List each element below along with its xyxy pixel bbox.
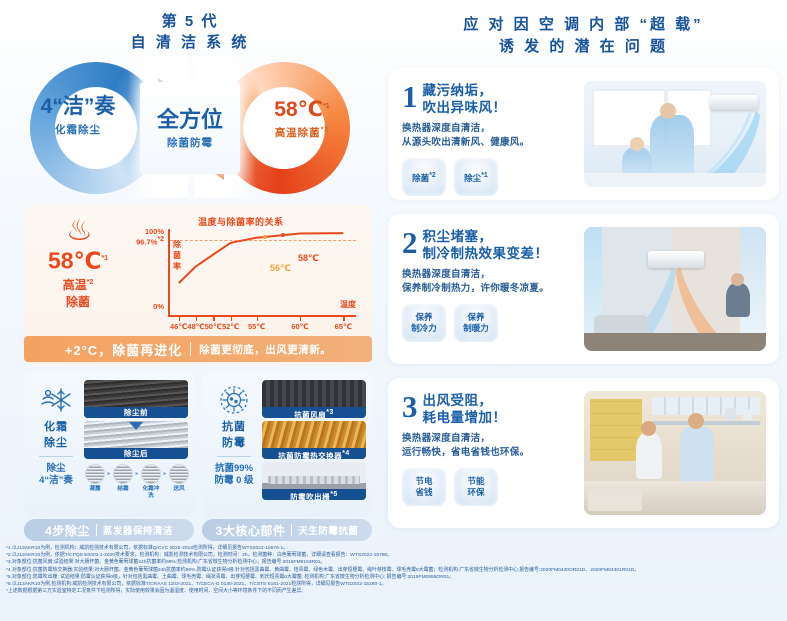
flame-label-line2: 除菌	[38, 295, 118, 310]
footnote-7: *上述数据根据第三方实验室特定工况条件下检测所得，实际使用效果会因为温湿度、使用…	[6, 588, 781, 595]
chart-annotation-56: 56℃	[270, 263, 291, 274]
card2-desc-line1: 换热器深度自清洁，	[402, 268, 577, 282]
panel1-title-line1: 化霜	[30, 420, 82, 434]
right-headline: 应 对 因 空 调 内 部 “超 载” 诱 发 的 潜 在 问 题	[380, 14, 787, 58]
flame-temperature-sup: *1	[101, 255, 108, 262]
card2-title-line1: 积尘堵塞，	[402, 228, 577, 245]
x-tick-label-46℃: 46℃	[170, 322, 187, 331]
left-headline-line2: 自 清 洁 系 统	[0, 32, 380, 54]
infinity-loop-diagram: 4“洁”奏 化霜除尘 全方位 除菌防霉 58℃*1 高温除菌*2	[8, 58, 372, 198]
card3-title-line2: 耗电量增加！	[402, 409, 577, 426]
panel2-caption-fan: 抗菌风扇*3	[262, 407, 366, 418]
flame-badge: ♨ 58℃*1 高温*2 除菌	[38, 217, 118, 310]
card1-desc-line1: 换热器深度自清洁，	[402, 122, 577, 136]
ac-unit-icon	[710, 95, 758, 110]
dedust-step-label: 结霜	[112, 486, 134, 493]
chip-eco[interactable]: 节能环保	[454, 468, 498, 506]
dedust-step-label: 凝露	[84, 486, 106, 493]
panel1-steps: 凝露▸结霜▸化霜冲洗▸送风	[84, 464, 190, 500]
x-axis-ticks: 46℃48℃50℃52℃55℃60℃65℃	[168, 317, 358, 337]
footnote-2: *2.以J13AKR10为例，依据T/CPQS E0003.1-2020技术要求…	[6, 552, 781, 559]
panel1-divider	[39, 456, 73, 457]
panel2-caption-louver: 防霉吹出栅*5	[262, 489, 366, 500]
right-headline-line1: 应 对 因 空 调 内 部 “超 载”	[380, 14, 787, 36]
card2-image	[584, 227, 766, 351]
problem-card-1: 1 藏污纳垢， 吹出异味风！ 换热器深度自清洁， 从源头吹出清新风、健康风。 除…	[388, 68, 779, 200]
chart-annotation-58: 58℃	[298, 253, 319, 264]
x-tick-label-50℃: 50℃	[205, 322, 222, 331]
panel2-sub-line2: 防霉 0 级	[208, 475, 260, 487]
feature-panel-dust-removal: 化霜 除尘 除尘 4“洁”奏 除尘前 除尘后 凝露▸结霜▸化霜冲洗▸送风	[24, 372, 194, 517]
x-tick-55℃	[257, 317, 258, 321]
step-separator-icon: ▸	[135, 464, 138, 477]
cta-sub-text: 除菌更彻底，出风更清新。	[199, 342, 331, 357]
x-tick-label-60℃: 60℃	[291, 322, 308, 331]
panel2-bar-sub: 天生防霉抗菌	[298, 523, 358, 537]
problem-card-2: 2 积尘堵塞， 制冷制热效果变差！ 换热器深度自清洁， 保养制冷制热力，许你暖冬…	[388, 214, 779, 364]
card1-chips: 除菌*2 除尘*1	[402, 150, 577, 196]
x-tick-label-48℃: 48℃	[187, 322, 204, 331]
dedust-step-label: 送风	[168, 486, 190, 493]
chip-maintain-heating[interactable]: 保养制暖力	[454, 304, 498, 342]
panel1-sub-line2: 4“洁”奏	[30, 475, 82, 487]
footnote-1: *1.以J13AKR10为例，检测机构：威凯检测技术有限公司，依据标准Q/CVC…	[6, 545, 781, 552]
card2-chips: 保养制冷力 保养制暖力	[402, 296, 577, 342]
card2-number: 2	[402, 228, 418, 258]
card1-text: 1 藏污纳垢， 吹出异味风！ 换热器深度自清洁， 从源头吹出清新风、健康风。 除…	[402, 82, 577, 196]
right-column: 应 对 因 空 调 内 部 “超 载” 诱 发 的 潜 在 问 题 1 藏污纳垢…	[380, 0, 787, 545]
card3-title-line1: 出风受阻，	[402, 392, 577, 409]
dedust-step-icon	[113, 464, 133, 484]
card3-image	[584, 391, 766, 515]
dedust-step-icon	[85, 464, 105, 484]
chip-maintain-cooling[interactable]: 保养制冷力	[402, 304, 446, 342]
left-headline-line1: 第 5 代	[0, 12, 380, 32]
panel1-caption-before: 除尘前	[84, 407, 188, 418]
card1-image	[584, 81, 766, 187]
card3-desc-line2: 运行畅快，省电省钱也环保。	[402, 446, 577, 460]
flame-icon: ♨	[38, 217, 118, 245]
panel1-caption-after: 除尘后	[84, 448, 188, 459]
card2-desc-line2: 保养制冷制热力，许你暖冬凉夏。	[402, 282, 577, 296]
panel2-right: 抗菌风扇*3 抗菌防霉热交换器*4 防霉吹出栅*5	[262, 380, 366, 503]
loop-right-title-sup: *1	[323, 103, 330, 110]
ac-unit-icon	[648, 251, 704, 268]
loop-center-title: 全方位	[157, 107, 223, 133]
x-tick-48℃	[196, 317, 197, 321]
panel1-left: 化霜 除尘 除尘 4“洁”奏	[30, 382, 82, 487]
panel2-image-fan: 抗菌风扇*3	[262, 380, 366, 418]
panel2-left: 抗菌 防霉 抗菌99% 防霉 0 级	[208, 382, 260, 487]
chart-point-58	[281, 233, 285, 237]
card2-title-line2: 制冷制热效果变差！	[402, 245, 577, 262]
card3-desc-line1: 换热器深度自清洁，	[402, 432, 577, 446]
x-tick-label-52℃: 52℃	[222, 322, 239, 331]
card3-number: 3	[402, 392, 418, 422]
panel2-caption-heat-exchanger: 抗菌防霉热交换器*4	[262, 448, 366, 459]
left-headline: 第 5 代 自 清 洁 系 统	[0, 12, 380, 54]
cta-banner: +2°C，除菌再进化 除菌更彻底，出风更清新。	[24, 336, 372, 362]
right-headline-line2: 诱 发 的 潜 在 问 题	[380, 36, 787, 58]
chip-save-power[interactable]: 节电省钱	[402, 468, 446, 506]
card2-text: 2 积尘堵塞， 制冷制热效果变差！ 换热器深度自清洁， 保养制冷制热力，许你暖冬…	[402, 228, 577, 342]
step-separator-icon: ▸	[107, 464, 110, 477]
snowflake-dust-icon	[30, 382, 82, 418]
loop-center-subtitle: 除菌防霉	[167, 135, 213, 150]
loop-item-right: 58℃*1 高温除菌*2	[242, 94, 362, 140]
virus-shield-icon	[208, 382, 260, 418]
panel2-title-line2: 防霉	[208, 436, 260, 450]
x-tick-46℃	[179, 317, 180, 321]
panel1-bar-divider	[96, 524, 97, 536]
panel2-summary-bar: 3大核心部件 天生防霉抗菌	[202, 519, 372, 541]
dedust-step-icon	[141, 464, 161, 484]
left-column: 第 5 代 自 清 洁 系 统 4“洁”奏 化霜除尘 全方位 除菌防霉 58℃*…	[0, 0, 380, 545]
dedust-step-label: 化霜冲洗	[140, 486, 162, 500]
dedust-step-1: 凝露	[84, 464, 106, 493]
panel1-bar-sub: 蒸发器保持清洁	[103, 523, 173, 537]
chart-series-svg	[120, 215, 358, 327]
panel2-sub-line1: 抗菌99%	[208, 463, 260, 475]
flame-label-line1: 高温*2	[38, 275, 118, 293]
loop-right-subtitle: 高温除菌*2	[242, 125, 362, 140]
panel1-sub-line1: 除尘	[30, 463, 82, 475]
panel2-bar-main: 3大核心部件	[216, 522, 286, 539]
loop-left-subtitle: 化霜除尘	[18, 122, 138, 137]
card1-desc-line2: 从源头吹出清新风、健康风。	[402, 136, 577, 150]
dedust-step-icon	[169, 464, 189, 484]
flame-label-sup: *2	[87, 279, 94, 286]
flame-temperature: 58℃*1	[38, 247, 118, 273]
x-tick-label-55℃: 55℃	[248, 322, 265, 331]
panel2-bar-divider	[291, 524, 292, 536]
panel1-bar-main: 4步除尘	[45, 522, 90, 539]
footnotes: *1.以J13AKR10为例，检测机构：威凯检测技术有限公司，依据标准Q/CVC…	[6, 545, 781, 595]
card1-title-line1: 藏污纳垢，	[402, 82, 577, 99]
x-tick-50℃	[213, 317, 214, 321]
x-tick-65℃	[343, 317, 344, 321]
loop-right-title: 58℃*1	[242, 94, 362, 123]
x-tick-60℃	[300, 317, 301, 321]
chip-dedust[interactable]: 除尘*1	[454, 158, 498, 196]
panel1-title-line2: 除尘	[30, 436, 82, 450]
card1-desc: 换热器深度自清洁， 从源头吹出清新风、健康风。	[402, 116, 577, 150]
x-tick-label-65℃: 65℃	[335, 322, 352, 331]
panel1-image-before: 除尘前	[84, 380, 188, 418]
panel1-summary-bar: 4步除尘 蒸发器保持清洁	[24, 519, 194, 541]
dedust-step-2: 结霜	[112, 464, 134, 493]
card1-title-line2: 吹出异味风！	[402, 99, 577, 116]
loop-left-title: 4“洁”奏	[18, 94, 138, 120]
feature-panel-antibacterial: 抗菌 防霉 抗菌99% 防霉 0 级 抗菌风扇*3 抗菌防霉热交换器*4 防霉吹…	[202, 372, 372, 517]
loop-item-center: 全方位 除菌防霉	[140, 82, 240, 174]
cta-main-text: +2°C，除菌再进化	[65, 340, 182, 359]
chip-sterilize[interactable]: 除菌*2	[402, 158, 446, 196]
infographic-page: 第 5 代 自 清 洁 系 统 4“洁”奏 化霜除尘 全方位 除菌防霉 58℃*…	[0, 0, 787, 621]
card3-chips: 节电省钱 节能环保	[402, 460, 577, 506]
panel2-title-line1: 抗菌	[208, 420, 260, 434]
panel1-right: 除尘前 除尘后	[84, 380, 188, 462]
card1-number: 1	[402, 82, 418, 112]
line-chart: 温度与除菌率的关系 100% 96.7%*2 0% 除菌率 温度 56℃ 58℃…	[120, 215, 358, 327]
footnote-3: *3.对象部位:抗菌风扇;试验结果:对大肠杆菌、金黄色葡萄球菌24h抗菌率约99…	[6, 559, 781, 566]
panel2-image-heat-exchanger: 抗菌防霉热交换器*4	[262, 421, 366, 459]
footnote-4: *4.对象部位:抗菌防霉热交换器;实验结果:对大肠杆菌、金黄色葡萄球菌24h抗菌…	[6, 567, 781, 574]
warm-airflow-icon	[676, 267, 722, 343]
loop-right-subtitle-sup: *2	[321, 127, 330, 134]
card3-text: 3 出风受阻， 耗电量增加！ 换热器深度自清洁， 运行畅快，省电省钱也环保。 节…	[402, 392, 577, 506]
card2-desc: 换热器深度自清洁， 保养制冷制热力，许你暖冬凉夏。	[402, 262, 577, 296]
step-separator-icon: ▸	[163, 464, 166, 477]
panel2-divider	[217, 456, 251, 457]
footnote-6: *6.以J13AKR10为例,检测机构:威凯检测技术有限公司，依据标准T/CRA…	[6, 581, 781, 588]
cta-divider	[190, 342, 191, 356]
card3-desc: 换热器深度自清洁， 运行畅快，省电省钱也环保。	[402, 426, 577, 460]
dedust-step-3: 化霜冲洗	[140, 464, 162, 500]
dedust-step-4: 送风	[168, 464, 190, 493]
footnote-5: *5.对象部位:防霉吹出栅; 试验结果:防霉认证获得0级，针对包括黑曲霉、土曲霉…	[6, 574, 781, 581]
down-arrow-icon	[129, 422, 143, 430]
panel2-image-louver: 防霉吹出栅*5	[262, 462, 366, 500]
loop-item-left: 4“洁”奏 化霜除尘	[18, 94, 138, 137]
problem-card-3: 3 出风受阻， 耗电量增加！ 换热器深度自清洁， 运行畅快，省电省钱也环保。 节…	[388, 378, 779, 528]
x-tick-52℃	[231, 317, 232, 321]
